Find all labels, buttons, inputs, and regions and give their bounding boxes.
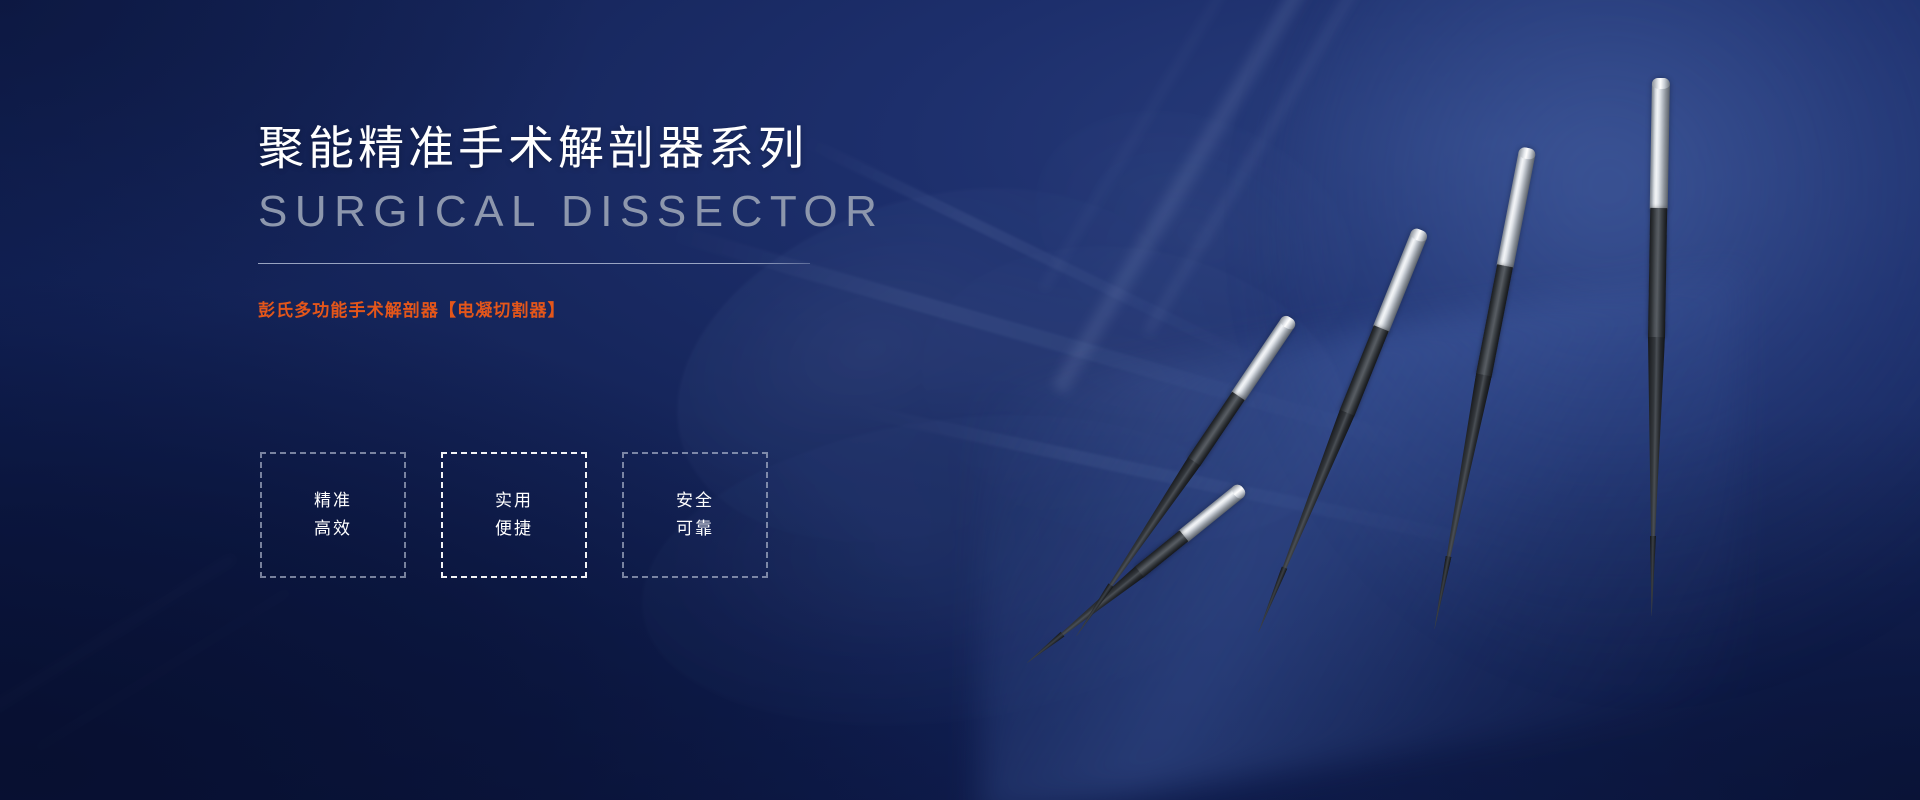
feature-box-3-line1: 安全	[676, 487, 714, 515]
page-title: 聚能精准手术解剖器系列	[258, 120, 1018, 178]
banner-text-block: 聚能精准手术解剖器系列 SURGICAL DISSECTOR 彭氏多功能手术解剖…	[258, 120, 1018, 321]
feature-box-group: 精准 高效 实用 便捷 安全 可靠	[260, 452, 768, 578]
feature-box-1: 精准 高效	[260, 452, 406, 578]
page-subtitle-english: SURGICAL DISSECTOR	[258, 186, 1018, 238]
product-name-label: 彭氏多功能手术解剖器【电凝切割器】	[258, 296, 1018, 321]
feature-box-1-line1: 精准	[314, 487, 352, 515]
feature-box-1-line2: 高效	[314, 515, 352, 543]
feature-box-2-line1: 实用	[495, 487, 533, 515]
feature-box-2: 实用 便捷	[441, 452, 587, 578]
feature-box-3: 安全 可靠	[622, 452, 768, 578]
hero-banner: 聚能精准手术解剖器系列 SURGICAL DISSECTOR 彭氏多功能手术解剖…	[0, 0, 1920, 800]
feature-box-3-line2: 可靠	[676, 515, 714, 543]
feature-box-2-line2: 便捷	[495, 515, 533, 543]
title-divider	[258, 263, 810, 264]
